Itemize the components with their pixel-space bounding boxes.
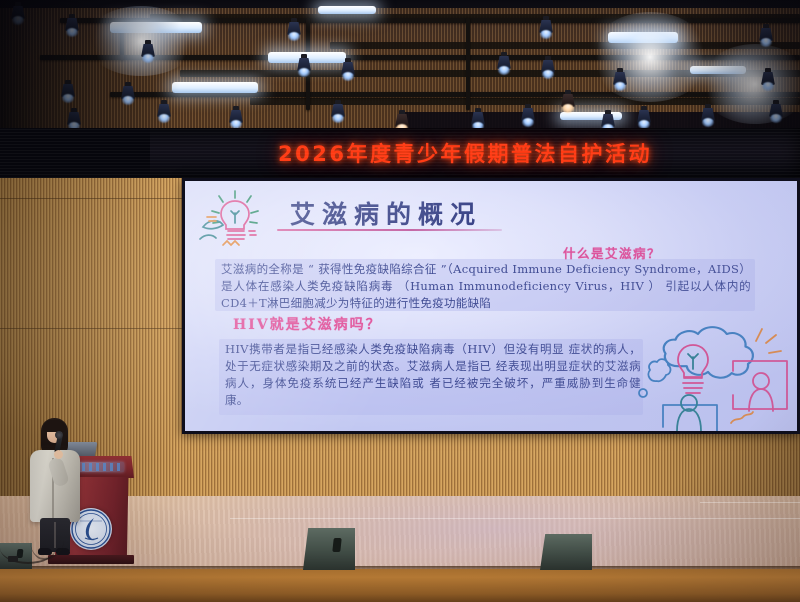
led-banner-text: 2026年度青少年假期普法自护活动 [278,138,652,168]
cable-connector-box [8,556,18,562]
light-bar [318,6,376,14]
truss-bar [466,18,470,110]
presentation-slide: 艾滋病的概况 什么是艾滋病？ 艾滋病的全称是 “ 获得性免疫缺陷综合征 ”（Ac… [185,181,797,431]
lightbulb-sketch-icon [197,187,275,253]
auditorium-stage-scene: 2026年度青少年假期普法自护活动 艾滋病的概况 [0,0,800,602]
led-banner: 2026年度青少年假期普法自护活动 [0,128,800,178]
speaker-person [24,418,86,558]
slide-paragraph-1: 艾滋病的全称是 “ 获得性免疫缺陷综合征 ”（Acquired Immune D… [221,261,751,312]
slide-title: 艾滋病的概况 [290,195,482,231]
led-banner-dark-segment [0,128,150,178]
speaker-hair-front [43,420,66,432]
slide-question-2: HIV就是艾滋病吗？ [233,314,382,334]
title-underline [277,229,502,231]
floor-monitor-speaker [303,528,355,570]
stage-front-edge [0,569,800,602]
projection-screen-frame: 艾滋病的概况 什么是艾滋病？ 艾滋病的全称是 “ 获得性免疫缺陷综合征 ”（Ac… [182,178,800,434]
speaker-hand [54,450,63,459]
light-bar [608,32,678,43]
slide-paragraph-2: HIV携带者是指已经感染人类免疫缺陷病毒（HIV）但没有明显 症状的病人， 处于… [225,341,641,409]
microphone-head-icon [55,431,63,439]
floor-monitor-speaker [540,534,592,570]
thought-cloud-people-sketch-icon [627,319,793,431]
light-bar [172,82,258,93]
